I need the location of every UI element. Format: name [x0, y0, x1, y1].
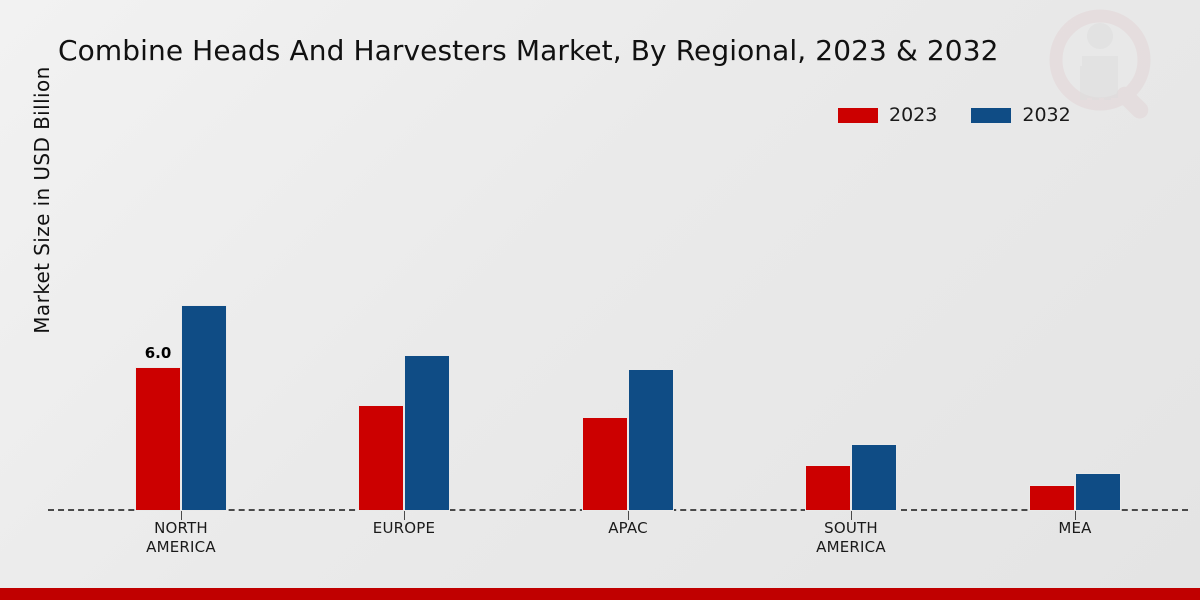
bar-2023-apac[interactable]: [582, 417, 628, 511]
x-axis-label-europe: EUROPE: [309, 519, 499, 538]
legend-label-2023: 2023: [889, 104, 937, 126]
bar-2032-europe[interactable]: [404, 355, 450, 511]
bar-group: SOUTHAMERICA: [756, 140, 946, 511]
bar-2032-apac[interactable]: [628, 369, 674, 511]
bar-2023-mea[interactable]: [1029, 485, 1075, 511]
x-axis-label-south-america: SOUTHAMERICA: [756, 519, 946, 557]
legend-swatch-2023: [838, 108, 878, 123]
bar-2032-north-america[interactable]: [181, 305, 227, 511]
x-axis-label-mea: MEA: [980, 519, 1170, 538]
legend-item-2032[interactable]: 2032: [971, 104, 1070, 126]
legend-label-2032: 2032: [1022, 104, 1070, 126]
x-axis-label-north-america: NORTHAMERICA: [86, 519, 276, 557]
legend-item-2023[interactable]: 2023: [838, 104, 937, 126]
bar-2023-europe[interactable]: [358, 405, 404, 511]
legend-swatch-2032: [971, 108, 1011, 123]
x-axis-label-apac: APAC: [533, 519, 723, 538]
bar-group: EUROPE: [309, 140, 499, 511]
bar-2032-mea[interactable]: [1075, 473, 1121, 511]
bar-group: APAC: [533, 140, 723, 511]
bar-value-label: 6.0: [145, 344, 172, 362]
bar-group: MEA: [980, 140, 1170, 511]
bottom-accent-stripe: [0, 588, 1200, 600]
bar-2032-south-america[interactable]: [851, 444, 897, 511]
bar-2023-north-america[interactable]: 6.0: [135, 367, 181, 511]
chart-legend: 2023 2032: [838, 104, 1071, 126]
bar-2023-south-america[interactable]: [805, 465, 851, 511]
plot-area: 6.0NORTHAMERICAEUROPEAPACSOUTHAMERICAMEA: [48, 140, 1188, 511]
chart-title: Combine Heads And Harvesters Market, By …: [58, 34, 999, 67]
bar-group: 6.0NORTHAMERICA: [86, 140, 276, 511]
